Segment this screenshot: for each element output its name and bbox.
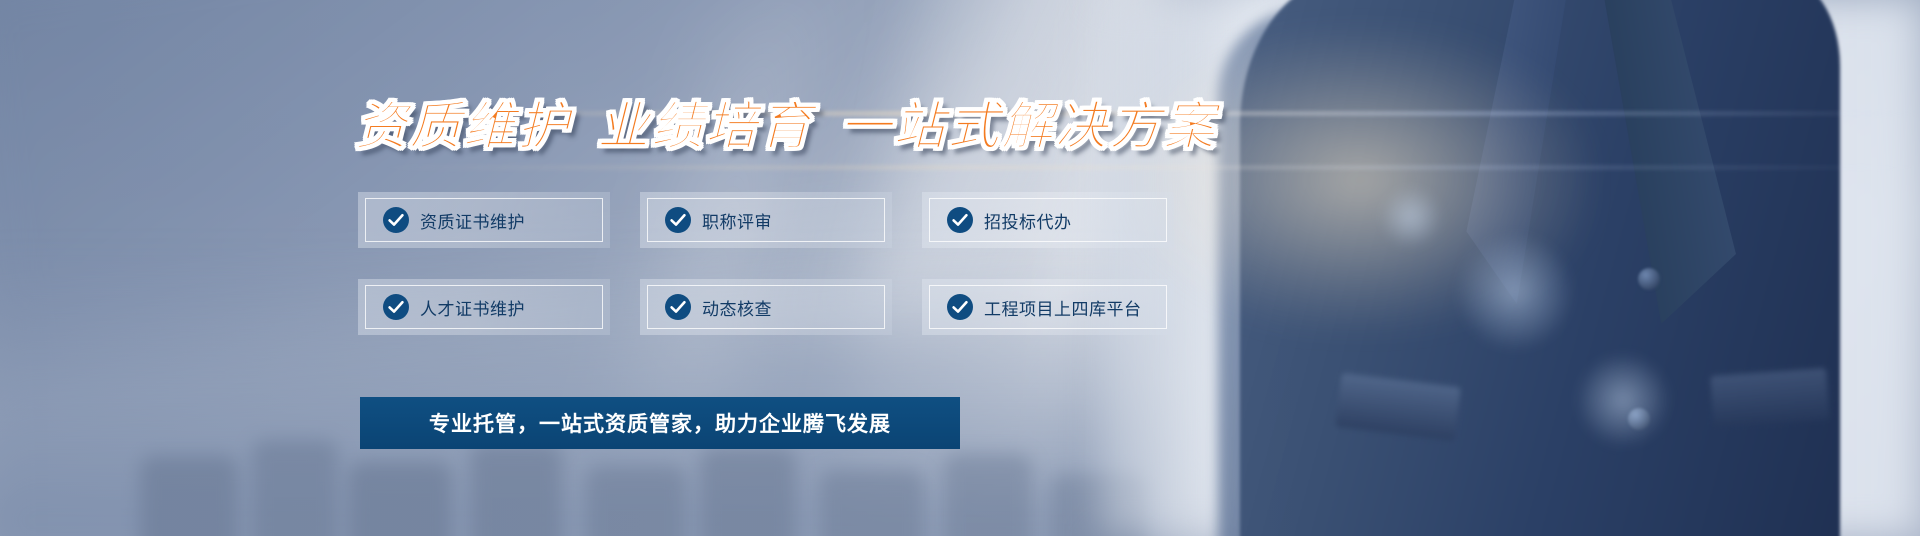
headline-segment-3: 一站式解决方案 bbox=[839, 98, 1217, 156]
feature-item-talent-certificate[interactable]: 人才证书维护 bbox=[358, 279, 610, 335]
tagline-bar: 专业托管，一站式资质管家，助力企业腾飞发展 bbox=[360, 397, 960, 449]
feature-item-project-platform[interactable]: 工程项目上四库平台 bbox=[922, 279, 1174, 335]
check-circle-icon bbox=[665, 294, 691, 320]
feature-item-label: 工程项目上四库平台 bbox=[984, 295, 1142, 320]
feature-list: 资质证书维护 职称评审 招投标代办 bbox=[358, 192, 1174, 335]
feature-item-dynamic-inspection[interactable]: 动态核查 bbox=[640, 279, 892, 335]
check-circle-icon bbox=[947, 207, 973, 233]
check-circle-icon bbox=[383, 294, 409, 320]
check-circle-icon bbox=[383, 207, 409, 233]
feature-item-title-evaluation[interactable]: 职称评审 bbox=[640, 192, 892, 248]
banner-content: 资质维护业绩培育一站式解决方案 资质证书维护 职称评审 bbox=[0, 0, 1920, 536]
promotional-banner: 资质维护业绩培育一站式解决方案 资质证书维护 职称评审 bbox=[0, 0, 1920, 536]
tagline-text: 专业托管，一站式资质管家，助力企业腾飞发展 bbox=[429, 408, 891, 438]
feature-item-label: 人才证书维护 bbox=[420, 295, 525, 320]
headline-segment-2: 业绩培育 bbox=[597, 98, 813, 156]
banner-headline: 资质维护业绩培育一站式解决方案 bbox=[355, 84, 1217, 159]
feature-item-qualification-certificate[interactable]: 资质证书维护 bbox=[358, 192, 610, 248]
feature-item-label: 动态核查 bbox=[702, 295, 772, 320]
check-circle-icon bbox=[947, 294, 973, 320]
feature-item-bidding-agency[interactable]: 招投标代办 bbox=[922, 192, 1174, 248]
feature-item-label: 资质证书维护 bbox=[420, 208, 525, 233]
feature-item-label: 职称评审 bbox=[702, 208, 772, 233]
headline-segment-1: 资质维护 bbox=[355, 98, 571, 156]
feature-item-label: 招投标代办 bbox=[984, 208, 1072, 233]
check-circle-icon bbox=[665, 207, 691, 233]
